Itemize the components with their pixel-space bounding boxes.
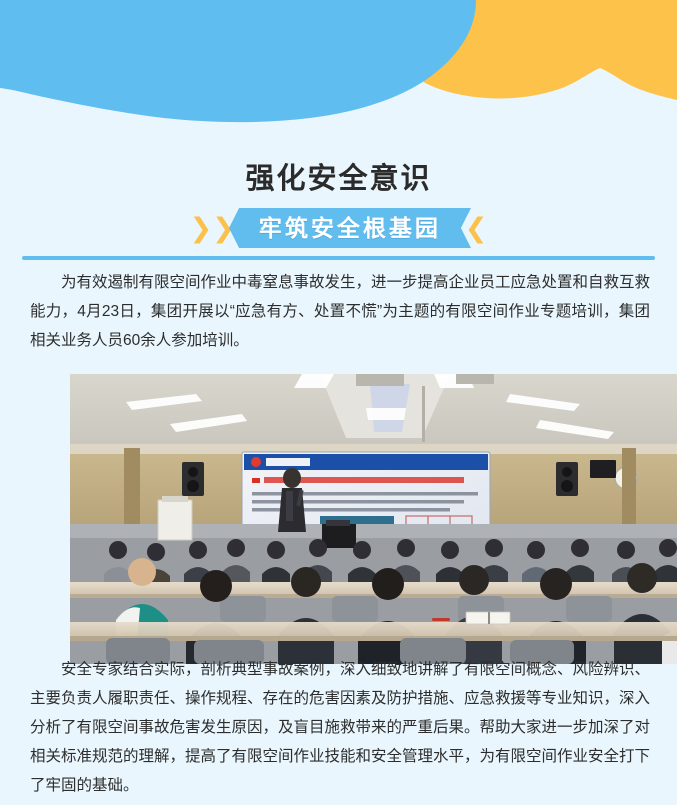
poster-page: 强化安全意识 ❯❯ 牢筑安全根基园 ❮ 为有效遏制有限空间作业中毒窒息事故发生，…: [0, 0, 677, 805]
page-title: 强化安全意识: [0, 160, 677, 198]
subtitle-row: ❯❯ 牢筑安全根基园 ❮: [0, 208, 677, 248]
intro-paragraph: 为有效遏制有限空间作业中毒窒息事故发生，进一步提高企业员工应急处置和自救互救能力…: [30, 268, 650, 355]
subtitle-banner: 牢筑安全根基园: [229, 208, 471, 248]
blue-wave-step: [236, 86, 256, 120]
subtitle-text: 牢筑安全根基园: [229, 208, 471, 248]
detail-paragraph: 安全专家结合实际，剖析典型事故案例，深入细致地讲解了有限空间概念、风险辨识、主要…: [30, 655, 650, 800]
training-photo-illustration: [70, 374, 677, 664]
title-block: 强化安全意识 ❯❯ 牢筑安全根基园 ❮: [0, 160, 677, 248]
header-decoration: [0, 0, 677, 132]
section-divider: [22, 256, 655, 260]
training-photo: [70, 374, 677, 664]
